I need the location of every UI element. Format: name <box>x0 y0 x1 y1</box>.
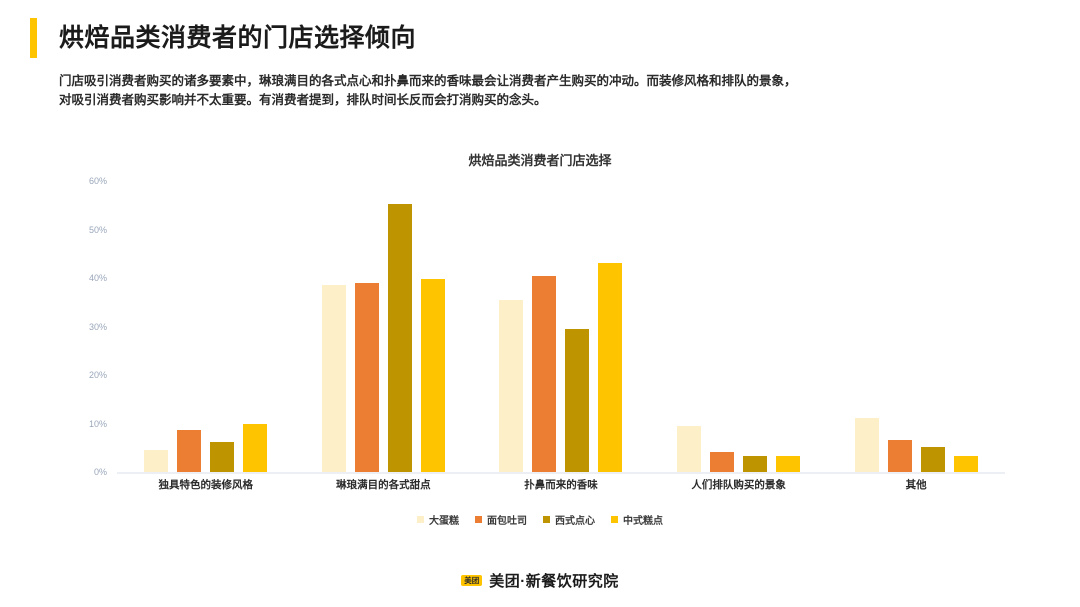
accent-bar <box>30 18 37 58</box>
legend-item[interactable]: 西式点心 <box>543 512 595 527</box>
bar[interactable] <box>210 442 234 472</box>
bar-group <box>650 181 828 472</box>
bar[interactable] <box>388 204 412 472</box>
bar-group <box>295 181 473 472</box>
page-header: 烘焙品类消费者的门店选择倾向 门店吸引消费者购买的诸多要素中，琳琅满目的各式点心… <box>0 0 1080 110</box>
page-title: 烘焙品类消费者的门店选择倾向 <box>59 18 416 58</box>
x-axis-label: 其他 <box>827 477 1005 492</box>
y-axis-tick: 10% <box>89 419 107 429</box>
bar[interactable] <box>532 276 556 472</box>
y-axis-tick: 0% <box>94 467 107 477</box>
y-axis-tick: 40% <box>89 273 107 283</box>
chart-container: 烘焙品类消费者门店选择 60%50%40%30%20%10%0% 独具特色的装修… <box>0 150 1080 550</box>
legend-item[interactable]: 大蛋糕 <box>417 512 459 527</box>
bar[interactable] <box>144 450 168 472</box>
subtitle-line-2: 对吸引消费者购买影响并不太重要。有消费者提到，排队时间长反而会打消购买的念头。 <box>59 91 984 110</box>
x-axis-label: 人们排队购买的景象 <box>650 477 828 492</box>
legend-label: 西式点心 <box>555 512 595 527</box>
legend-item[interactable]: 面包吐司 <box>475 512 527 527</box>
title-row: 烘焙品类消费者的门店选择倾向 <box>0 18 1080 58</box>
x-axis-label: 扑鼻而来的香味 <box>472 477 650 492</box>
x-axis-labels: 独具特色的装修风格琳琅满目的各式甜点扑鼻而来的香味人们排队购买的景象其他 <box>117 477 1005 492</box>
x-axis-label: 琳琅满目的各式甜点 <box>295 477 473 492</box>
bar[interactable] <box>921 447 945 472</box>
footer-text: 美团·新餐饮研究院 <box>489 570 619 591</box>
bar-group <box>827 181 1005 472</box>
legend-swatch-icon <box>475 516 482 523</box>
bar[interactable] <box>598 263 622 472</box>
bar[interactable] <box>565 329 589 472</box>
legend-label: 大蛋糕 <box>429 512 459 527</box>
bar-group <box>472 181 650 472</box>
bar[interactable] <box>177 430 201 472</box>
bar[interactable] <box>710 452 734 472</box>
y-axis: 60%50%40%30%20%10%0% <box>75 181 115 472</box>
footer: 美团 美团·新餐饮研究院 <box>0 570 1080 591</box>
legend-item[interactable]: 中式糕点 <box>611 512 663 527</box>
y-axis-tick: 50% <box>89 225 107 235</box>
bar[interactable] <box>677 426 701 472</box>
bar[interactable] <box>954 456 978 472</box>
x-axis-baseline <box>117 472 1005 474</box>
bar[interactable] <box>776 456 800 472</box>
legend-swatch-icon <box>417 516 424 523</box>
legend-swatch-icon <box>543 516 550 523</box>
bar[interactable] <box>743 456 767 472</box>
bar[interactable] <box>499 300 523 472</box>
y-axis-tick: 30% <box>89 322 107 332</box>
y-axis-tick: 20% <box>89 370 107 380</box>
chart-title: 烘焙品类消费者门店选择 <box>0 150 1080 169</box>
legend-swatch-icon <box>611 516 618 523</box>
bar-group <box>117 181 295 472</box>
x-axis-label: 独具特色的装修风格 <box>117 477 295 492</box>
bar[interactable] <box>322 285 346 472</box>
meituan-logo-badge: 美团 <box>461 575 482 587</box>
bar-groups <box>117 181 1005 472</box>
bar[interactable] <box>888 440 912 472</box>
bar[interactable] <box>355 283 379 472</box>
chart-legend: 大蛋糕面包吐司西式点心中式糕点 <box>0 512 1080 527</box>
y-axis-tick: 60% <box>89 176 107 186</box>
subtitle-line-1: 门店吸引消费者购买的诸多要素中，琳琅满目的各式点心和扑鼻而来的香味最会让消费者产… <box>59 72 984 91</box>
legend-label: 中式糕点 <box>623 512 663 527</box>
legend-label: 面包吐司 <box>487 512 527 527</box>
bar[interactable] <box>243 424 267 472</box>
page-subtitle: 门店吸引消费者购买的诸多要素中，琳琅满目的各式点心和扑鼻而来的香味最会让消费者产… <box>59 72 984 110</box>
plot-area: 60%50%40%30%20%10%0% 独具特色的装修风格琳琅满目的各式甜点扑… <box>75 181 1005 486</box>
bar[interactable] <box>855 418 879 472</box>
bar[interactable] <box>421 279 445 472</box>
